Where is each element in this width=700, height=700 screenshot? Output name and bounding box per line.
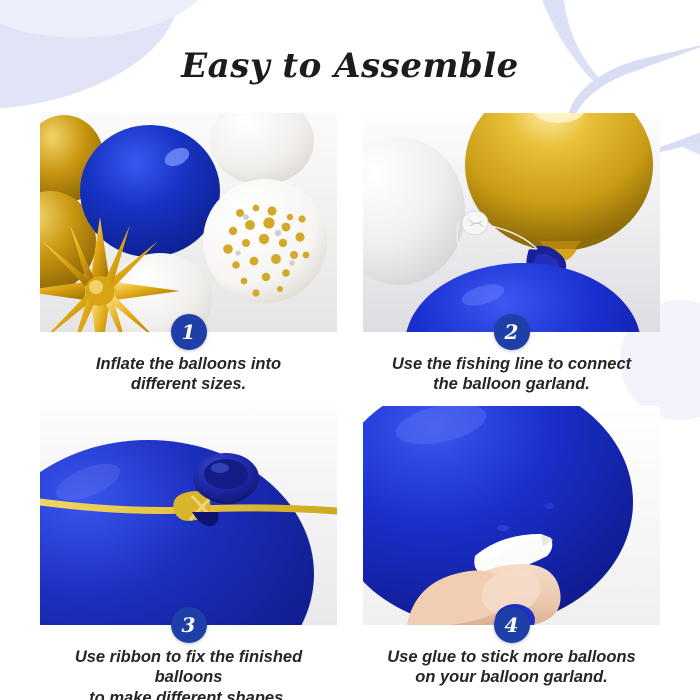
step-card-3: 3 Use ribbon to fix the finished balloon…: [40, 406, 337, 700]
ribbon-tie-illustration: [40, 406, 337, 625]
step-badge-2: 2: [494, 314, 530, 350]
step-caption-4: Use glue to stick more balloons on your …: [363, 647, 660, 687]
steps-grid: 1 Inflate the balloons into different si…: [40, 113, 660, 700]
step-badge-3: 3: [171, 607, 207, 643]
step-image-1: [40, 113, 337, 332]
step-caption-1: Inflate the balloons into different size…: [40, 354, 337, 394]
step-image-4: [363, 406, 660, 625]
step-badge-1: 1: [171, 314, 207, 350]
step-card-1: 1 Inflate the balloons into different si…: [40, 113, 337, 394]
balloon-cluster-illustration: [40, 113, 337, 332]
step-image-3: [40, 406, 337, 625]
fishing-line-illustration: [363, 113, 660, 332]
step-card-4: 4 Use glue to stick more balloons on you…: [363, 406, 660, 700]
infographic-page: Easy to Assemble: [0, 0, 700, 700]
step-image-2: [363, 113, 660, 332]
glue-dot-illustration: [363, 406, 660, 625]
step-caption-2: Use the fishing line to connect the ball…: [363, 354, 660, 394]
step-card-2: 2 Use the fishing line to connect the ba…: [363, 113, 660, 394]
page-title: Easy to Assemble: [0, 46, 700, 86]
step-badge-4: 4: [494, 607, 530, 643]
step-caption-3: Use ribbon to fix the finished balloons …: [40, 647, 337, 700]
